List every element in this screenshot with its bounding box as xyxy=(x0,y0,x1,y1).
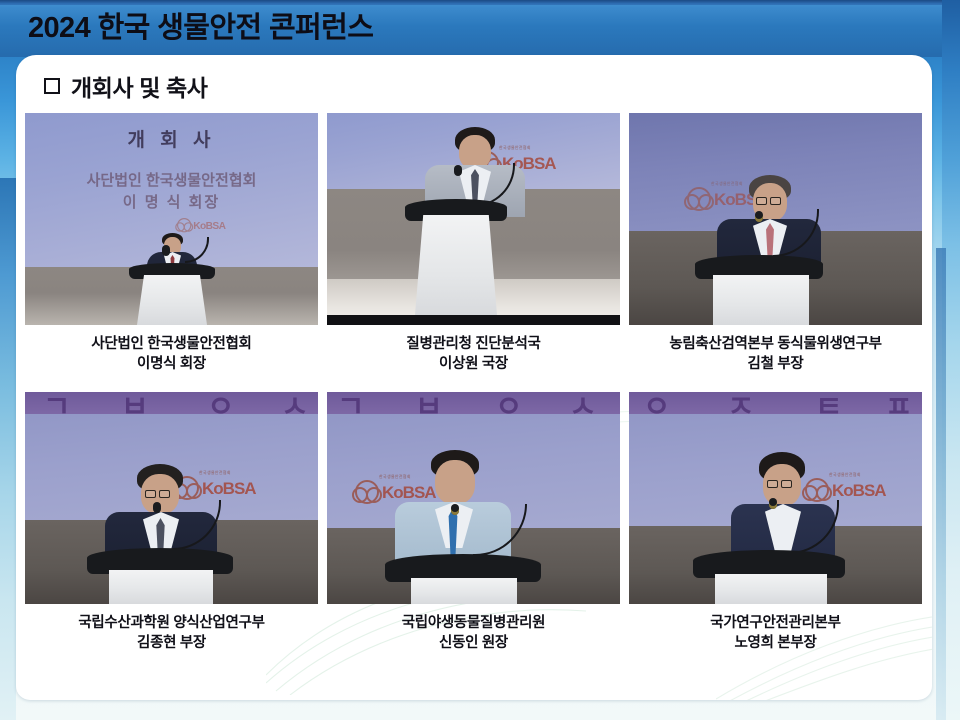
glasses-icon xyxy=(767,480,792,488)
photo-caption-6: 국가연구안전관리본부 노영희 본부장 xyxy=(629,613,922,653)
photo-grid-row-1: 개 회 사 사단법인 한국생물안전협회 이 명 식 회장 KoBSA xyxy=(25,113,923,374)
speaker-photo-1[interactable]: 개 회 사 사단법인 한국생물안전협회 이 명 식 회장 KoBSA xyxy=(25,113,318,325)
speaker-photo-2[interactable]: KoBSA 한국생물안전협회 xyxy=(327,113,620,325)
stage-edge xyxy=(327,315,620,325)
glasses-icon xyxy=(756,197,781,205)
caption-line-1: 국가연구안전관리본부 xyxy=(629,613,922,633)
checkbox-square-icon xyxy=(44,78,60,94)
photo-scene-6: ㅇㅈㅌㅍ KoBSA 한국생물안전협회 xyxy=(629,392,922,604)
kobsa-wordmark: KoBSA xyxy=(193,220,225,230)
biohazard-icon xyxy=(355,480,379,504)
photo-grid-row-2: ㄱㅂㅇㅅ KoBSA 한국생물안전협회 xyxy=(25,392,923,653)
photo-grid: 개 회 사 사단법인 한국생물안전협회 이 명 식 회장 KoBSA xyxy=(25,113,923,653)
photo-caption-3: 농림축산검역본부 동식물위생연구부 김철 부장 xyxy=(629,334,922,374)
slide-title: 2024 한국 생물안전 콘퍼런스 xyxy=(28,8,373,48)
microphone-head xyxy=(153,502,161,513)
photo-cell-2: KoBSA 한국생물안전협회 xyxy=(327,113,620,374)
background-right-band xyxy=(936,248,946,720)
screen-banner-strip: ㄱㅂㅇㅅ xyxy=(25,392,318,414)
caption-line-1: 농림축산검역본부 동식물위생연구부 xyxy=(629,334,922,354)
photo-scene-3: KoBSA 한국생물안전협회 xyxy=(629,113,922,325)
glasses-icon xyxy=(145,490,170,498)
background-left-stripe xyxy=(0,178,16,720)
caption-line-2: 이상원 국장 xyxy=(327,354,620,374)
caption-line-2: 김종현 부장 xyxy=(25,633,318,653)
photo-caption-1: 사단법인 한국생물안전협회 이명식 회장 xyxy=(25,334,318,374)
podium-body xyxy=(715,574,827,604)
biohazard-icon xyxy=(687,187,711,211)
photo-cell-6: ㅇㅈㅌㅍ KoBSA 한국생물안전협회 xyxy=(629,392,922,653)
podium-body xyxy=(713,275,809,325)
podium-body xyxy=(411,578,517,604)
projected-slide-subtitle-line2: 이 명 식 회장 xyxy=(25,193,318,213)
speaker-photo-3[interactable]: KoBSA 한국생물안전협회 xyxy=(629,113,922,325)
presentation-slide: 2024 한국 생물안전 콘퍼런스 xyxy=(0,0,960,720)
podium-body xyxy=(415,215,497,315)
photo-cell-5: ㄱㅂㅇㅅ KoBSA 한국생물안전협회 xyxy=(327,392,620,653)
microphone-head xyxy=(451,504,459,515)
speaker-photo-6[interactable]: ㅇㅈㅌㅍ KoBSA 한국생물안전협회 xyxy=(629,392,922,604)
kobsa-logo-icon: KoBSA xyxy=(177,218,225,232)
caption-line-1: 국립야생동물질병관리원 xyxy=(327,613,620,633)
section-heading-label: 개회사 및 축사 xyxy=(71,69,208,103)
caption-line-1: 질병관리청 진단분석국 xyxy=(327,334,620,354)
speaker-photo-4[interactable]: ㄱㅂㅇㅅ KoBSA 한국생물안전협회 xyxy=(25,392,318,604)
photo-cell-4: ㄱㅂㅇㅅ KoBSA 한국생물안전협회 xyxy=(25,392,318,653)
photo-caption-2: 질병관리청 진단분석국 이상원 국장 xyxy=(327,334,620,374)
section-heading: 개회사 및 축사 xyxy=(44,69,208,103)
photo-cell-1: 개 회 사 사단법인 한국생물안전협회 이 명 식 회장 KoBSA xyxy=(25,113,318,374)
caption-line-2: 이명식 회장 xyxy=(25,354,318,374)
content-card: 개회사 및 축사 개 회 사 사단법인 한국생물안전협회 이 명 식 회장 xyxy=(16,55,932,700)
screen-banner-strip: ㅇㅈㅌㅍ xyxy=(629,392,922,414)
biohazard-icon xyxy=(177,218,191,232)
photo-caption-5: 국립야생동물질병관리원 신동인 원장 xyxy=(327,613,620,653)
photo-caption-4: 국립수산과학원 양식산업연구부 김종현 부장 xyxy=(25,613,318,653)
caption-line-2: 김철 부장 xyxy=(629,354,922,374)
screen-banner-strip: ㄱㅂㅇㅅ xyxy=(327,392,620,414)
caption-line-1: 사단법인 한국생물안전협회 xyxy=(25,334,318,354)
microphone-head xyxy=(454,165,462,176)
microphone-head xyxy=(769,498,777,509)
photo-scene-2: KoBSA 한국생물안전협회 xyxy=(327,113,620,325)
microphone-head xyxy=(755,211,763,222)
projected-slide-subtitle-line1: 사단법인 한국생물안전협회 xyxy=(25,171,318,191)
photo-scene-5: ㄱㅂㅇㅅ KoBSA 한국생물안전협회 xyxy=(327,392,620,604)
speaker-photo-5[interactable]: ㄱㅂㅇㅅ KoBSA 한국생물안전협회 xyxy=(327,392,620,604)
kobsa-wordmark: KoBSA xyxy=(832,482,886,499)
photo-cell-3: KoBSA 한국생물안전협회 xyxy=(629,113,922,374)
caption-line-2: 신동인 원장 xyxy=(327,633,620,653)
podium-body xyxy=(109,570,213,604)
caption-line-1: 국립수산과학원 양식산업연구부 xyxy=(25,613,318,633)
photo-scene-1: 개 회 사 사단법인 한국생물안전협회 이 명 식 회장 KoBSA xyxy=(25,113,318,325)
podium-body xyxy=(137,275,207,325)
photo-scene-4: ㄱㅂㅇㅅ KoBSA 한국생물안전협회 xyxy=(25,392,318,604)
microphone-head xyxy=(162,245,170,256)
caption-line-2: 노영희 본부장 xyxy=(629,633,922,653)
projected-slide-title: 개 회 사 xyxy=(25,125,318,152)
head xyxy=(435,460,475,504)
